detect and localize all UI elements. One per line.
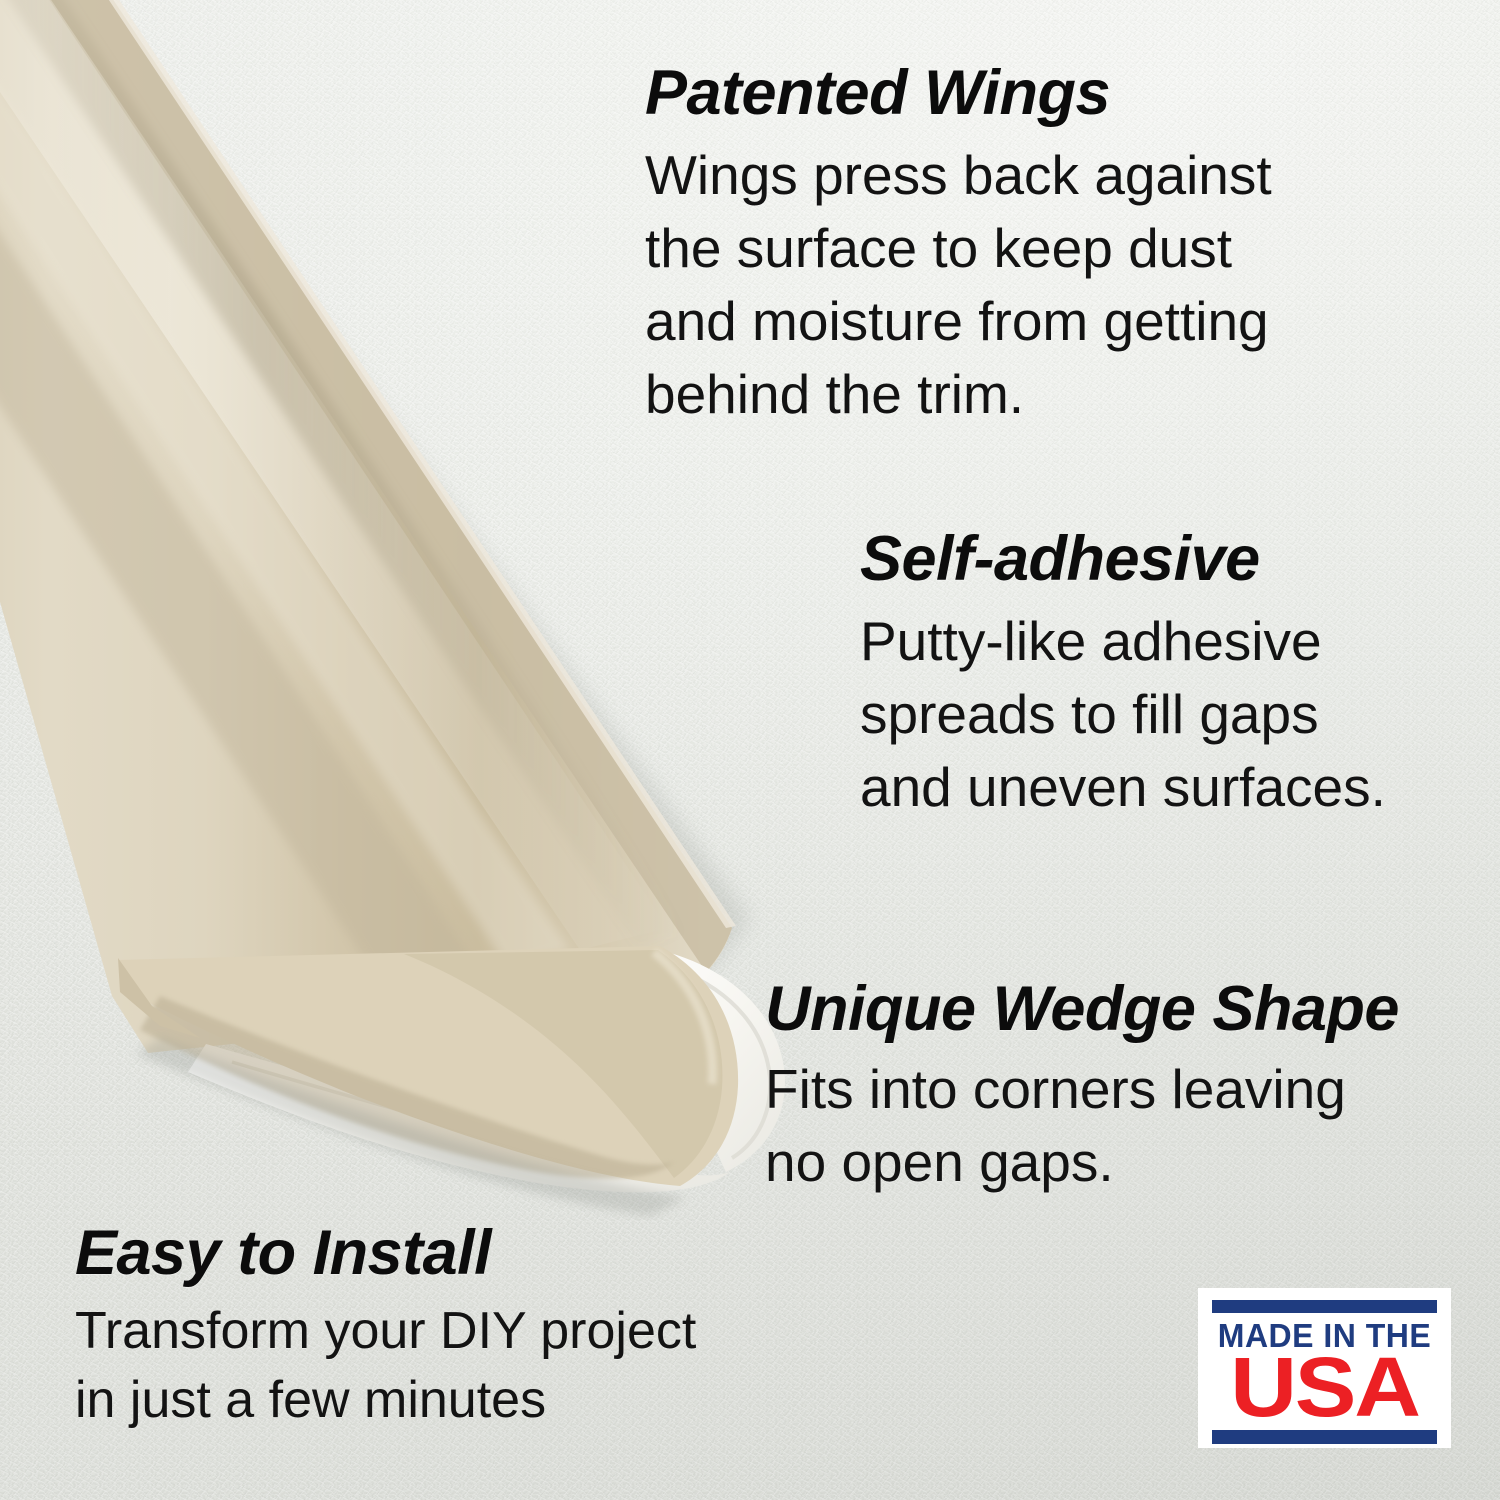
feature-body-line: no open gaps. (765, 1126, 1399, 1199)
feature-body-line: the surface to keep dust (645, 212, 1272, 285)
made-in-usa-badge: MADE IN THE USA (1198, 1288, 1451, 1448)
feature-heading: Easy to Install (75, 1222, 696, 1285)
badge-usa-text: USA (1201, 1349, 1449, 1426)
feature-body-line: Putty-like adhesive (860, 605, 1386, 678)
feature-body-line: Fits into corners leaving (765, 1053, 1399, 1126)
feature-body: Putty-like adhesive spreads to fill gaps… (860, 605, 1386, 824)
feature-easy-to-install: Easy to Install Transform your DIY proje… (75, 1222, 696, 1435)
feature-body-line: in just a few minutes (75, 1366, 696, 1435)
badge-top-bar (1212, 1300, 1437, 1313)
feature-body-line: and uneven surfaces. (860, 751, 1386, 824)
feature-body: Wings press back against the surface to … (645, 139, 1272, 432)
feature-heading: Patented Wings (645, 62, 1272, 125)
feature-body-line: behind the trim. (645, 358, 1272, 431)
feature-body-line: Wings press back against (645, 139, 1272, 212)
feature-body: Transform your DIY project in just a few… (75, 1297, 696, 1435)
feature-unique-wedge-shape: Unique Wedge Shape Fits into corners lea… (765, 978, 1399, 1199)
feature-body-line: Transform your DIY project (75, 1297, 696, 1366)
feature-body-line: and moisture from getting (645, 285, 1272, 358)
feature-heading: Unique Wedge Shape (765, 978, 1399, 1041)
feature-heading: Self-adhesive (860, 528, 1386, 591)
feature-patented-wings: Patented Wings Wings press back against … (645, 62, 1272, 432)
feature-body: Fits into corners leaving no open gaps. (765, 1053, 1399, 1199)
feature-body-line: spreads to fill gaps (860, 678, 1386, 751)
product-infographic-poster: Patented Wings Wings press back against … (0, 0, 1500, 1500)
feature-self-adhesive: Self-adhesive Putty-like adhesive spread… (860, 528, 1386, 824)
